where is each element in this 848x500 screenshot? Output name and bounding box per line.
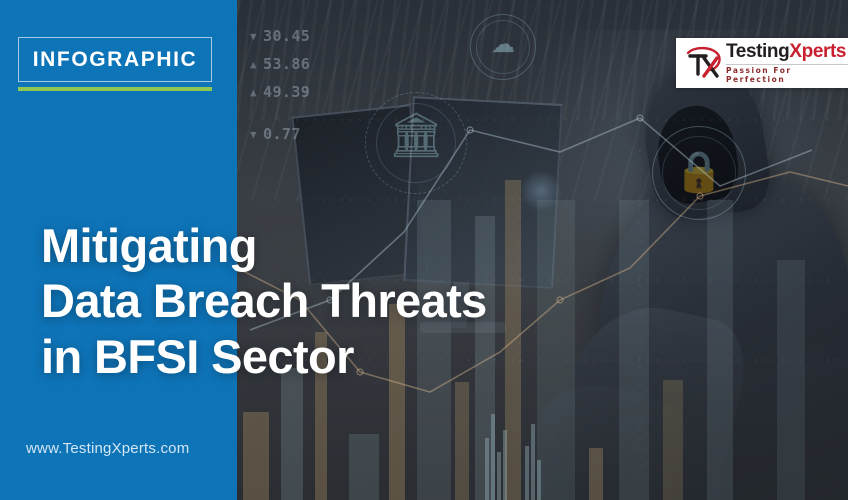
arrow-down-icon: ▼ <box>250 31 257 42</box>
tx-monogram-icon <box>684 44 724 82</box>
logo-name-part1: Testing <box>726 41 789 62</box>
arrow-down-icon: ▼ <box>250 129 257 140</box>
ticker-value: 49.39 <box>263 83 310 101</box>
logo-divider <box>726 64 848 65</box>
ticker-value: 53.86 <box>263 55 310 73</box>
ticker-row: ▼ 30.45 <box>250 22 360 50</box>
logo-text-block: TestingXperts Passion For Perfection <box>726 42 848 84</box>
badge-label: INFOGRAPHIC <box>33 48 198 72</box>
title-line-1: Mitigating <box>41 218 831 273</box>
ticker-row: ▲ 49.39 <box>250 78 360 106</box>
logo-name-part2: Xperts <box>789 41 846 62</box>
website-url[interactable]: www.TestingXperts.com <box>26 440 189 457</box>
ticker-value: 30.45 <box>263 27 310 45</box>
arrow-up-icon: ▲ <box>250 59 257 70</box>
infographic-badge: INFOGRAPHIC <box>18 37 212 91</box>
title-line-3: in BFSI Sector <box>41 329 831 384</box>
ticker-row: ▼ 0.77 <box>250 120 360 148</box>
infographic-banner: ☁ 🏛 🔒 ▼ 30.45 ▲ 53.86 <box>0 0 848 500</box>
badge-box: INFOGRAPHIC <box>18 37 212 82</box>
arrow-up-icon: ▲ <box>250 87 257 98</box>
badge-underline <box>18 87 212 91</box>
page-title: Mitigating Data Breach Threats in BFSI S… <box>41 218 831 384</box>
logo-wordmark: TestingXperts <box>726 42 848 62</box>
logo-tagline: Passion For Perfection <box>726 66 848 84</box>
title-line-2: Data Breach Threats <box>41 273 831 328</box>
testingxperts-logo[interactable]: TestingXperts Passion For Perfection <box>676 38 848 88</box>
ticker-value: 0.77 <box>263 125 301 143</box>
ticker-row: ▲ 53.86 <box>250 50 360 78</box>
market-ticker: ▼ 30.45 ▲ 53.86 ▲ 49.39 ▼ 0.77 <box>250 22 360 148</box>
